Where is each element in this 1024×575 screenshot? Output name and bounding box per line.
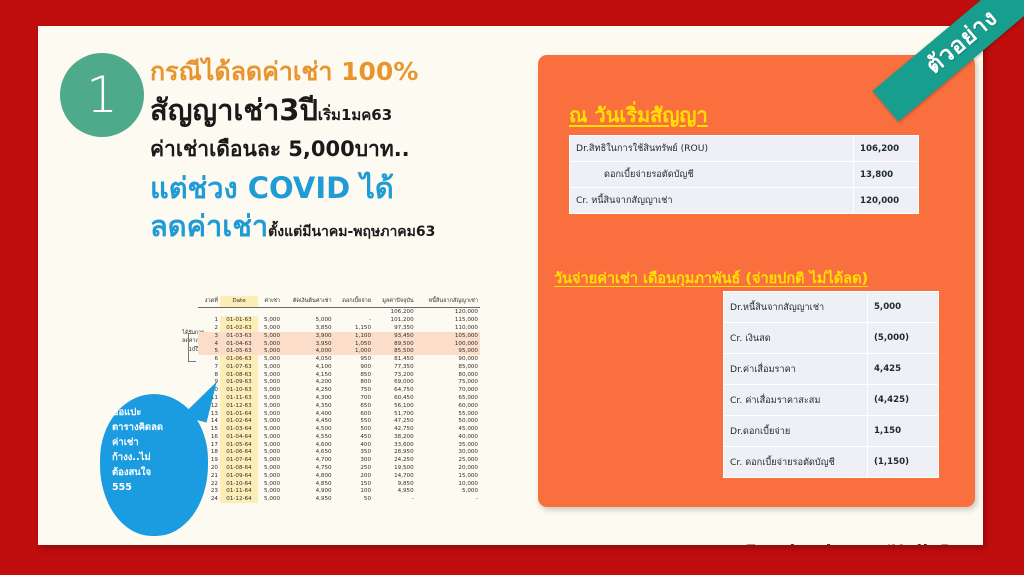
entry-table-february: Dr.หนี้สินจากสัญญาเช่า5,000Cr. เงินสด(5,…: [723, 291, 939, 478]
table-row: 2101-09-645,0004,80020014,70015,000: [198, 472, 480, 480]
principal-cell: 4,400: [282, 410, 334, 418]
rent-cell: 5,000: [258, 402, 282, 410]
table-row: 1801-06-645,0004,65035028,95030,000: [198, 449, 480, 457]
table-row: 501-05-635,0004,0001,00085,50095,000: [198, 347, 480, 355]
period-cell: 2: [198, 324, 220, 332]
table-row: 2001-08-645,0004,75025019,50020,000: [198, 464, 480, 472]
heading-monthly-rent: ค่าเช่าเดือนละ 5,000บาท..: [150, 137, 550, 162]
period-cell: 7: [198, 363, 220, 371]
date-cell: 01-05-64: [220, 441, 258, 449]
table-row: 1401-02-645,0004,45055047,25050,000: [198, 417, 480, 425]
rent-cell: 5,000: [258, 316, 282, 324]
principal-cell: 4,350: [282, 402, 334, 410]
table-row: 1701-05-645,0004,60040033,60035,000: [198, 441, 480, 449]
table-row: 401-04-635,0003,9501,05089,500100,000: [198, 340, 480, 348]
date-cell: 01-02-63: [220, 324, 258, 332]
entry2-account-label: Cr. เงินสด: [724, 323, 868, 354]
rent-cell: 5,000: [258, 417, 282, 425]
principal-cell: 4,550: [282, 433, 334, 441]
pv-cell: 24,250: [373, 456, 416, 464]
heading-orange: กรณีได้ลดค่าเช่า 100%: [150, 56, 550, 87]
col-principal: ตัดเงินต้นค่าเช่า: [282, 296, 334, 308]
principal-cell: 4,850: [282, 480, 334, 488]
table-row: 301-03-635,0003,9001,10093,450105,000: [198, 332, 480, 340]
interest-cell: 850: [334, 371, 373, 379]
rent-cell: 5,000: [258, 324, 282, 332]
table-row: 1301-01-645,0004,40060051,70055,000: [198, 410, 480, 418]
rent-cell: 5,000: [258, 394, 282, 402]
col-date: Date: [220, 296, 258, 308]
table-row: 1001-10-635,0004,25075064,75070,000: [198, 386, 480, 394]
date-cell: 01-05-63: [220, 347, 258, 355]
col-period: งวดที่: [198, 296, 220, 308]
date-cell: 01-01-64: [220, 410, 258, 418]
liability-cell: 50,000: [416, 417, 480, 425]
liability-cell: 115,000: [416, 316, 480, 324]
entry2-amount: 5,000: [867, 292, 938, 323]
principal-cell: 4,000: [282, 347, 334, 355]
liability-cell: 15,000: [416, 472, 480, 480]
table-row: 1201-12-635,0004,35065056,10060,000: [198, 402, 480, 410]
pv-cell: 47,250: [373, 417, 416, 425]
interest-cell: 1,150: [334, 324, 373, 332]
principal-cell: 4,700: [282, 456, 334, 464]
opening-liability: 120,000: [416, 308, 480, 317]
table-row: 901-09-635,0004,20080069,00075,000: [198, 379, 480, 387]
liability-cell: 105,000: [416, 332, 480, 340]
col-pv: มูลค่าปัจจุบัน: [373, 296, 416, 308]
pv-cell: 19,500: [373, 464, 416, 472]
interest-cell: 900: [334, 363, 373, 371]
table-row: Cr. หนี้สินจากสัญญาเช่า120,000: [570, 188, 919, 214]
amortization-table-wrapper: งวดที่ Date ค่าเช่า ตัดเงินต้นค่าเช่า ดอ…: [198, 296, 480, 503]
date-cell: 01-12-64: [220, 495, 258, 503]
rent-cell: 5,000: [258, 332, 282, 340]
interest-cell: 550: [334, 417, 373, 425]
period-cell: 3: [198, 332, 220, 340]
principal-cell: 3,950: [282, 340, 334, 348]
principal-cell: 5,000: [282, 316, 334, 324]
amortization-table: งวดที่ Date ค่าเช่า ตัดเงินต้นค่าเช่า ดอ…: [198, 296, 480, 503]
date-cell: 01-06-63: [220, 355, 258, 363]
date-cell: 01-10-64: [220, 480, 258, 488]
interest-cell: 950: [334, 355, 373, 363]
interest-cell: 700: [334, 394, 373, 402]
entry1-account-label: ดอกเบี้ยจ่ายรอตัดบัญชี: [570, 162, 854, 188]
heading-rent-reduction-period: ตั้งแต่มีนาคม-พฤษภาคม63: [268, 224, 435, 240]
table-row: Dr.สิทธิในการใช้สินทรัพย์ (ROU)106,200: [570, 136, 919, 162]
rent-cell: 5,000: [258, 456, 282, 464]
liability-cell: 95,000: [416, 347, 480, 355]
table-row: 201-02-635,0003,8501,15097,350110,000: [198, 324, 480, 332]
interest-cell: 1,100: [334, 332, 373, 340]
interest-cell: 400: [334, 441, 373, 449]
rent-cell: 5,000: [258, 449, 282, 457]
entry2-account-label: Cr. ค่าเสื่อมราคาสะสม: [724, 385, 868, 416]
interest-cell: 100: [334, 487, 373, 495]
pv-cell: 77,350: [373, 363, 416, 371]
entry2-amount: 1,150: [867, 416, 938, 447]
journal-entry-panel: ณ วันเริ่มสัญญา Dr.สิทธิในการใช้สินทรัพย…: [538, 55, 975, 507]
interest-cell: -: [334, 316, 373, 324]
liability-cell: 85,000: [416, 363, 480, 371]
rent-cell: 5,000: [258, 464, 282, 472]
principal-cell: 4,900: [282, 487, 334, 495]
table-row: 801-08-635,0004,15085073,20080,000: [198, 371, 480, 379]
date-cell: 01-09-63: [220, 379, 258, 387]
pv-cell: 64,750: [373, 386, 416, 394]
liability-cell: 10,000: [416, 480, 480, 488]
rent-cell: 5,000: [258, 495, 282, 503]
entry1-title: ณ วันเริ่มสัญญา: [569, 99, 708, 131]
rent-cell: 5,000: [258, 480, 282, 488]
entry2-title: วันจ่ายค่าเช่า เดือนกุมภาพันธ์ (จ่ายปกติ…: [554, 267, 868, 290]
date-cell: 01-07-64: [220, 456, 258, 464]
principal-cell: 3,900: [282, 332, 334, 340]
principal-cell: 4,650: [282, 449, 334, 457]
principal-cell: 4,100: [282, 363, 334, 371]
interest-cell: 200: [334, 472, 373, 480]
table-row: ดอกเบี้ยจ่ายรอตัดบัญชี13,800: [570, 162, 919, 188]
principal-cell: 4,250: [282, 386, 334, 394]
pv-cell: 81,450: [373, 355, 416, 363]
rent-cell: 5,000: [258, 433, 282, 441]
col-liability: หนี้สินจากสัญญาเช่า: [416, 296, 480, 308]
reduction-bracket-icon: [188, 333, 196, 362]
table-row: 101-01-635,0005,000-101,200115,000: [198, 316, 480, 324]
table-row: Cr. ดอกเบี้ยจ่ายรอตัดบัญชี(1,150): [724, 447, 939, 478]
amortization-body: 106,200120,000101-01-635,0005,000-101,20…: [198, 308, 480, 504]
rent-cell: 5,000: [258, 487, 282, 495]
date-cell: 01-08-63: [220, 371, 258, 379]
date-cell: 01-04-63: [220, 340, 258, 348]
principal-cell: 4,750: [282, 464, 334, 472]
interest-cell: 1,000: [334, 347, 373, 355]
liability-cell: 90,000: [416, 355, 480, 363]
entry2-amount: (4,425): [867, 385, 938, 416]
table-row: 1101-11-635,0004,30070060,45065,000: [198, 394, 480, 402]
liability-cell: 65,000: [416, 394, 480, 402]
entry1-account-label: Dr.สิทธิในการใช้สินทรัพย์ (ROU): [570, 136, 854, 162]
entry1-amount: 13,800: [854, 162, 919, 188]
pv-cell: 14,700: [373, 472, 416, 480]
rent-cell: 5,000: [258, 441, 282, 449]
pv-cell: 97,350: [373, 324, 416, 332]
interest-cell: 50: [334, 495, 373, 503]
principal-cell: 4,500: [282, 425, 334, 433]
entry2-amount: (1,150): [867, 447, 938, 478]
entry1-account-label: Cr. หนี้สินจากสัญญาเช่า: [570, 188, 854, 214]
date-cell: 01-01-63: [220, 316, 258, 324]
liability-cell: 5,000: [416, 487, 480, 495]
entry1-amount: 106,200: [854, 136, 919, 162]
liability-cell: -: [416, 495, 480, 503]
opening-pv: 106,200: [373, 308, 416, 317]
liability-cell: 20,000: [416, 464, 480, 472]
pv-cell: 101,200: [373, 316, 416, 324]
table-row: 1501-03-645,0004,50050042,75045,000: [198, 425, 480, 433]
principal-cell: 4,450: [282, 417, 334, 425]
table-row: 1601-04-645,0004,55045038,20040,000: [198, 433, 480, 441]
entry2-account-label: Dr.ค่าเสื่อมราคา: [724, 354, 868, 385]
rent-cell: 5,000: [258, 425, 282, 433]
entry1-amount: 120,000: [854, 188, 919, 214]
principal-cell: 4,150: [282, 371, 334, 379]
entry2-amount: 4,425: [867, 354, 938, 385]
liability-cell: 110,000: [416, 324, 480, 332]
table-row: 106,200120,000: [198, 308, 480, 317]
facebook-handle[interactable]: Facebook.com/HallyBuncheeTax: [745, 542, 983, 545]
date-cell: 01-11-64: [220, 487, 258, 495]
speech-bubble-line: ก้างง..ไม่: [112, 450, 198, 465]
rent-cell: 5,000: [258, 363, 282, 371]
pv-cell: 42,750: [373, 425, 416, 433]
pv-cell: 85,500: [373, 347, 416, 355]
liability-cell: 35,000: [416, 441, 480, 449]
rent-cell: 5,000: [258, 340, 282, 348]
pv-cell: 51,700: [373, 410, 416, 418]
principal-cell: 4,800: [282, 472, 334, 480]
date-cell: 01-09-64: [220, 472, 258, 480]
heading-covid: แต่ช่วง COVID ได้: [150, 171, 550, 206]
liability-cell: 80,000: [416, 371, 480, 379]
liability-cell: 75,000: [416, 379, 480, 387]
entry2-account-label: Dr.ดอกเบี้ยจ่าย: [724, 416, 868, 447]
col-rent: ค่าเช่า: [258, 296, 282, 308]
date-cell: 01-07-63: [220, 363, 258, 371]
heading-rent-reduction-main: ลดค่าเช่า: [150, 209, 268, 243]
interest-cell: 350: [334, 449, 373, 457]
principal-cell: 4,050: [282, 355, 334, 363]
entry2-amount: (5,000): [867, 323, 938, 354]
interest-cell: 500: [334, 425, 373, 433]
table-row: 601-06-635,0004,05095081,45090,000: [198, 355, 480, 363]
interest-cell: 250: [334, 464, 373, 472]
liability-cell: 100,000: [416, 340, 480, 348]
table-row: Dr.ค่าเสื่อมราคา4,425: [724, 354, 939, 385]
liability-cell: 30,000: [416, 449, 480, 457]
pv-cell: 9,850: [373, 480, 416, 488]
speech-bubble-line: ซอแปะ: [112, 405, 198, 420]
interest-cell: 1,050: [334, 340, 373, 348]
step-number-label: 1: [86, 70, 118, 120]
period-cell: 6: [198, 355, 220, 363]
principal-cell: 3,850: [282, 324, 334, 332]
amortization-header-row: งวดที่ Date ค่าเช่า ตัดเงินต้นค่าเช่า ดอ…: [198, 296, 480, 308]
speech-bubble-line: ตารางคิดลด: [112, 420, 198, 435]
liability-cell: 40,000: [416, 433, 480, 441]
interest-cell: 650: [334, 402, 373, 410]
rent-cell: 5,000: [258, 347, 282, 355]
pv-cell: 93,450: [373, 332, 416, 340]
interest-cell: 750: [334, 386, 373, 394]
entry-table-commencement: Dr.สิทธิในการใช้สินทรัพย์ (ROU)106,200ดอ…: [569, 135, 919, 214]
liability-cell: 55,000: [416, 410, 480, 418]
period-cell: 1: [198, 316, 220, 324]
date-cell: 01-04-64: [220, 433, 258, 441]
date-cell: 01-03-63: [220, 332, 258, 340]
date-cell: 01-12-63: [220, 402, 258, 410]
interest-cell: 800: [334, 379, 373, 387]
rent-cell: 5,000: [258, 371, 282, 379]
date-cell: 01-03-64: [220, 425, 258, 433]
table-row: Dr.ดอกเบี้ยจ่าย1,150: [724, 416, 939, 447]
pv-cell: -: [373, 495, 416, 503]
interest-cell: 150: [334, 480, 373, 488]
rent-cell: 5,000: [258, 472, 282, 480]
period-cell: 5: [198, 347, 220, 355]
table-row: 2401-12-645,0004,95050--: [198, 495, 480, 503]
speech-bubble-line: ค่าเช่า: [112, 435, 198, 450]
table-row: 2201-10-645,0004,8501509,85010,000: [198, 480, 480, 488]
interest-cell: 300: [334, 456, 373, 464]
rent-cell: 5,000: [258, 410, 282, 418]
rent-cell: 5,000: [258, 355, 282, 363]
entry2-account-label: Cr. ดอกเบี้ยจ่ายรอตัดบัญชี: [724, 447, 868, 478]
pv-cell: 28,950: [373, 449, 416, 457]
speech-bubble-line: ต้องสนใจ: [112, 465, 198, 480]
heading-rent-reduction: ลดค่าเช่าตั้งแต่มีนาคม-พฤษภาคม63: [150, 209, 550, 244]
date-cell: 01-02-64: [220, 417, 258, 425]
pv-cell: 4,950: [373, 487, 416, 495]
date-cell: 01-08-64: [220, 464, 258, 472]
table-row: Cr. เงินสด(5,000): [724, 323, 939, 354]
table-row: 1901-07-645,0004,70030024,25025,000: [198, 456, 480, 464]
liability-cell: 60,000: [416, 402, 480, 410]
pv-cell: 60,450: [373, 394, 416, 402]
period-cell: 4: [198, 340, 220, 348]
table-row: 2301-11-645,0004,9001004,9505,000: [198, 487, 480, 495]
pv-cell: 56,100: [373, 402, 416, 410]
interest-cell: 600: [334, 410, 373, 418]
liability-cell: 25,000: [416, 456, 480, 464]
pv-cell: 73,200: [373, 371, 416, 379]
table-row: 701-07-635,0004,10090077,35085,000: [198, 363, 480, 371]
liability-cell: 70,000: [416, 386, 480, 394]
rent-cell: 5,000: [258, 386, 282, 394]
rent-cell: 5,000: [258, 379, 282, 387]
col-interest: ดอกเบี้ยจ่าย: [334, 296, 373, 308]
step-number-badge: 1: [60, 53, 144, 137]
heading-contract-main: สัญญาเช่า3ปี: [150, 93, 318, 127]
date-cell: 01-10-63: [220, 386, 258, 394]
table-row: Dr.หนี้สินจากสัญญาเช่า5,000: [724, 292, 939, 323]
principal-cell: 4,600: [282, 441, 334, 449]
principal-cell: 4,950: [282, 495, 334, 503]
principal-cell: 4,200: [282, 379, 334, 387]
speech-bubble-line: 555: [112, 480, 198, 495]
interest-cell: 450: [334, 433, 373, 441]
pv-cell: 38,200: [373, 433, 416, 441]
slide-canvas: 1 กรณีได้ลดค่าเช่า 100% สัญญาเช่า3ปีเริ่…: [38, 26, 983, 545]
heading-block: กรณีได้ลดค่าเช่า 100% สัญญาเช่า3ปีเริ่ม1…: [150, 56, 550, 247]
heading-contract: สัญญาเช่า3ปีเริ่ม1มค63: [150, 93, 550, 128]
speech-bubble-text: ซอแปะตารางคิดลดค่าเช่าก้างง..ไม่ต้องสนใจ…: [112, 405, 198, 495]
date-cell: 01-06-64: [220, 449, 258, 457]
date-cell: 01-11-63: [220, 394, 258, 402]
principal-cell: 4,300: [282, 394, 334, 402]
heading-contract-start: เริ่ม1มค63: [318, 106, 392, 124]
pv-cell: 33,600: [373, 441, 416, 449]
table-row: Cr. ค่าเสื่อมราคาสะสม(4,425): [724, 385, 939, 416]
pv-cell: 89,500: [373, 340, 416, 348]
pv-cell: 69,000: [373, 379, 416, 387]
liability-cell: 45,000: [416, 425, 480, 433]
entry2-account-label: Dr.หนี้สินจากสัญญาเช่า: [724, 292, 868, 323]
